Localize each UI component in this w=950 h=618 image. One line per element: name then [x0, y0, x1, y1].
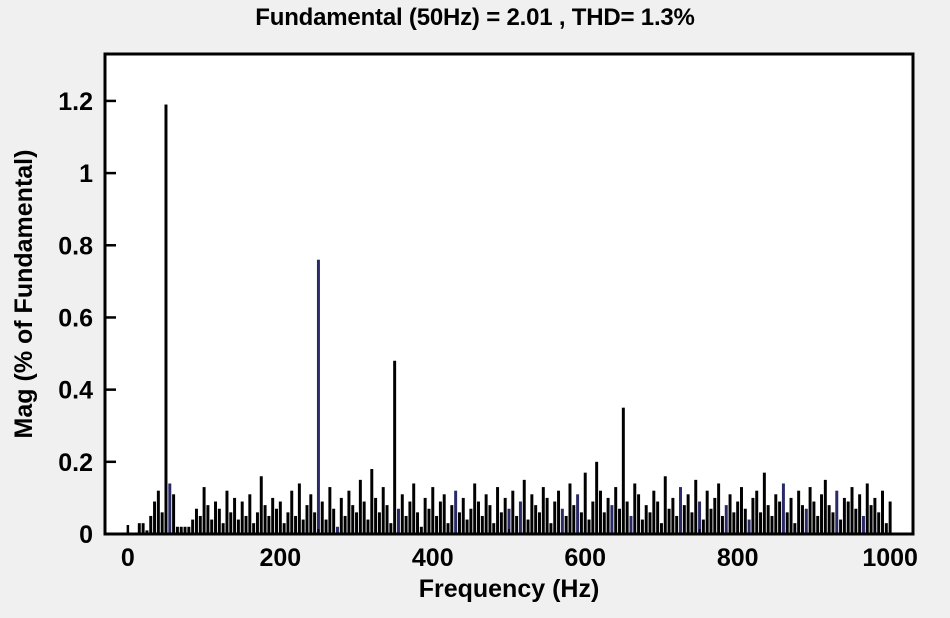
spectrum-bar [214, 502, 217, 534]
spectrum-bar [614, 487, 617, 534]
spectrum-bar [306, 505, 309, 534]
spectrum-bar [427, 509, 430, 534]
spectrum-bar [786, 512, 789, 534]
spectrum-bar [313, 512, 316, 534]
spectrum-bar [866, 483, 869, 534]
spectrum-bar [744, 509, 747, 534]
spectrum-bar [325, 520, 328, 534]
spectrum-bar [717, 483, 720, 534]
spectrum-bar [637, 494, 640, 534]
spectrum-bar [770, 516, 773, 534]
spectrum-bar [725, 505, 728, 534]
spectrum-bar [652, 491, 655, 534]
spectrum-bar [527, 520, 530, 534]
spectrum-bar [515, 516, 518, 534]
spectrum-bar [264, 505, 267, 534]
spectrum-bar [458, 512, 461, 534]
spectrum-bar [679, 487, 682, 534]
spectrum-bar [671, 498, 674, 534]
spectrum-bar [195, 509, 198, 534]
spectrum-bar [450, 505, 453, 534]
spectrum-bar [256, 512, 259, 534]
spectrum-bar [519, 502, 522, 534]
spectrum-bar [626, 502, 629, 534]
spectrum-bar [386, 505, 389, 534]
x-tick-label: 1000 [862, 544, 918, 572]
spectrum-bar [252, 523, 255, 534]
spectrum-bar [153, 502, 156, 534]
spectrum-bar [854, 509, 857, 534]
spectrum-bar [839, 520, 842, 534]
spectrum-bar [397, 509, 400, 534]
spectrum-bar [610, 505, 613, 534]
spectrum-bar [748, 520, 751, 534]
spectrum-bar [835, 491, 838, 534]
spectrum-bar [809, 487, 812, 534]
spectrum-bar [466, 520, 469, 534]
fft-plot-area: 02004006008001000 00.20.40.60.811.2 Freq… [0, 0, 950, 618]
y-tick-label: 1.2 [58, 88, 93, 116]
spectrum-bar [801, 505, 804, 534]
spectrum-bar [828, 505, 831, 534]
y-tick-label: 1 [79, 160, 93, 188]
spectrum-bar [683, 505, 686, 534]
spectrum-bar [157, 491, 160, 534]
spectrum-bar [740, 487, 743, 534]
spectrum-bar [820, 494, 823, 534]
spectrum-bar [496, 487, 499, 534]
spectrum-bar [248, 494, 251, 534]
spectrum-bar [416, 512, 419, 534]
spectrum-bar [222, 523, 225, 534]
spectrum-bar [649, 512, 652, 534]
spectrum-bar [161, 512, 164, 534]
spectrum-bar [702, 520, 705, 534]
spectrum-bar [767, 505, 770, 534]
spectrum-bar [633, 483, 636, 534]
spectrum-bar [645, 505, 648, 534]
spectrum-bar [218, 509, 221, 534]
x-tick-label: 800 [717, 544, 759, 572]
spectrum-bar [229, 512, 232, 534]
y-tick-label: 0 [79, 521, 93, 549]
spectrum-bar [485, 494, 488, 534]
spectrum-bar [245, 516, 248, 534]
y-axis-tick-labels: 00.20.40.60.811.2 [58, 88, 93, 549]
plot-background [105, 54, 913, 534]
spectrum-bar [210, 520, 213, 534]
spectrum-bar [408, 502, 411, 534]
spectrum-bar [412, 483, 415, 534]
spectrum-bar [283, 523, 286, 534]
spectrum-bar [347, 491, 350, 534]
spectrum-bar [302, 520, 305, 534]
spectrum-bar [332, 509, 335, 534]
spectrum-bar [656, 502, 659, 534]
spectrum-bar [713, 498, 716, 534]
spectrum-bar [199, 516, 202, 534]
spectrum-bar [790, 498, 793, 534]
spectrum-bar [374, 498, 377, 534]
spectrum-bar [668, 509, 671, 534]
spectrum-bar [309, 494, 312, 534]
spectrum-bar [858, 494, 861, 534]
spectrum-bar [271, 498, 274, 534]
spectrum-bar [500, 512, 503, 534]
spectrum-bar [755, 491, 758, 534]
x-axis-tick-labels: 02004006008001000 [121, 544, 918, 572]
spectrum-bar [286, 512, 289, 534]
spectrum-bar [447, 523, 450, 534]
spectrum-bar [862, 516, 865, 534]
spectrum-bar [462, 498, 465, 534]
spectrum-bar [557, 491, 560, 534]
spectrum-bar [454, 491, 457, 534]
spectrum-bar [782, 483, 785, 534]
spectrum-bar [805, 509, 808, 534]
spectrum-bar [885, 523, 888, 534]
spectrum-bar [435, 516, 438, 534]
spectrum-bar [595, 462, 598, 534]
spectrum-bar [870, 505, 873, 534]
spectrum-bar [275, 509, 278, 534]
spectrum-bar [294, 516, 297, 534]
spectrum-bar [751, 498, 754, 534]
spectrum-bar [191, 520, 194, 534]
spectrum-bar [138, 523, 141, 534]
spectrum-bar [142, 523, 145, 534]
spectrum-bar [267, 516, 270, 534]
spectrum-bar [382, 487, 385, 534]
spectrum-bar [546, 498, 549, 534]
spectrum-bar [732, 512, 735, 534]
spectrum-bar [881, 491, 884, 534]
spectrum-bar [538, 512, 541, 534]
spectrum-bar [549, 523, 552, 534]
x-tick-label: 0 [121, 544, 135, 572]
spectrum-bar [690, 512, 693, 534]
spectrum-bar [793, 523, 796, 534]
spectrum-bar [206, 505, 209, 534]
spectrum-bar [584, 473, 587, 534]
spectrum-bar [389, 523, 392, 534]
spectrum-bar [706, 491, 709, 534]
x-axis-title: Frequency (Hz) [419, 575, 600, 603]
spectrum-bar [729, 494, 732, 534]
spectrum-bar [542, 487, 545, 534]
spectrum-bar [797, 491, 800, 534]
spectrum-bar [831, 512, 834, 534]
spectrum-bar [317, 260, 320, 534]
spectrum-bar [511, 491, 514, 534]
spectrum-bar [233, 498, 236, 534]
spectrum-bar [778, 502, 781, 534]
spectrum-bar [321, 502, 324, 534]
spectrum-bar [618, 509, 621, 534]
spectrum-bar [328, 487, 331, 534]
spectrum-bar [443, 494, 446, 534]
spectrum-bar [572, 505, 575, 534]
spectrum-bar [344, 516, 347, 534]
spectrum-bar [164, 105, 167, 534]
spectrum-bar [877, 512, 880, 534]
spectrum-bar [401, 494, 404, 534]
spectrum-bar [629, 516, 632, 534]
x-tick-label: 600 [564, 544, 606, 572]
spectrum-bar [568, 483, 571, 534]
spectrum-bar [351, 505, 354, 534]
spectrum-bar [664, 476, 667, 534]
spectrum-bar [488, 505, 491, 534]
spectrum-bar [393, 361, 396, 534]
spectrum-bar [816, 516, 819, 534]
spectrum-bar [172, 494, 175, 534]
spectrum-bar [378, 512, 381, 534]
spectrum-bar [694, 480, 697, 534]
spectrum-bar [530, 494, 533, 534]
x-tick-label: 200 [259, 544, 301, 572]
spectrum-bar [359, 480, 362, 534]
spectrum-bar [641, 520, 644, 534]
x-tick-label: 400 [412, 544, 454, 572]
spectrum-bar [603, 512, 606, 534]
spectrum-bar [721, 516, 724, 534]
spectrum-bar [843, 498, 846, 534]
spectrum-bar [477, 502, 480, 534]
spectrum-bar [492, 523, 495, 534]
y-axis-title: Mag (% of Fundamental) [10, 150, 38, 439]
spectrum-bar [759, 512, 762, 534]
spectrum-bar [481, 516, 484, 534]
spectrum-bar [687, 494, 690, 534]
y-tick-label: 0.2 [58, 449, 93, 477]
spectrum-bar [504, 498, 507, 534]
spectrum-bar [580, 512, 583, 534]
spectrum-bar [260, 476, 263, 534]
spectrum-bar [565, 516, 568, 534]
spectrum-bar [370, 469, 373, 534]
fft-spectrum-figure: Fundamental (50Hz) = 2.01 , THD= 1.3% 02… [0, 0, 950, 618]
spectrum-bar [675, 516, 678, 534]
spectrum-bar [523, 480, 526, 534]
spectrum-bar [561, 509, 564, 534]
spectrum-bar [290, 491, 293, 534]
spectrum-bar [591, 502, 594, 534]
spectrum-bar [149, 516, 152, 534]
spectrum-bar [824, 480, 827, 534]
y-tick-label: 0.8 [58, 232, 93, 260]
spectrum-bar [534, 505, 537, 534]
spectrum-bar [763, 473, 766, 534]
spectrum-bar [588, 520, 591, 534]
spectrum-bar [607, 498, 610, 534]
spectrum-bar [553, 502, 556, 534]
spectrum-bar [774, 494, 777, 534]
spectrum-bar [366, 520, 369, 534]
spectrum-bar [203, 487, 206, 534]
spectrum-bar [576, 494, 579, 534]
spectrum-bar [168, 483, 171, 534]
spectrum-bar [851, 487, 854, 534]
spectrum-bar [710, 509, 713, 534]
spectrum-bar [363, 502, 366, 534]
spectrum-bar [847, 502, 850, 534]
y-tick-label: 0.6 [58, 304, 93, 332]
spectrum-bar [340, 498, 343, 534]
spectrum-bar [237, 520, 240, 534]
spectrum-bar [424, 498, 427, 534]
spectrum-bar [599, 491, 602, 534]
spectrum-bar [225, 491, 228, 534]
spectrum-bar [439, 502, 442, 534]
spectrum-bar [473, 483, 476, 534]
spectrum-bar [405, 516, 408, 534]
y-tick-label: 0.4 [58, 377, 93, 405]
spectrum-bar [873, 498, 876, 534]
spectrum-bar [298, 483, 301, 534]
spectrum-bar [622, 408, 625, 534]
